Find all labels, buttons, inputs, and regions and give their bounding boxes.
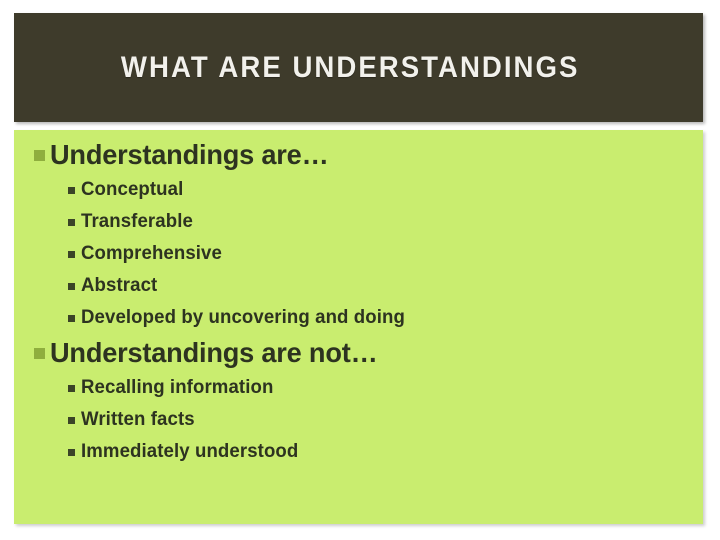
small-square-bullet-icon xyxy=(68,417,75,424)
bullet-item-label: Transferable xyxy=(81,210,193,234)
bullet-item: Immediately understood xyxy=(14,436,703,468)
bullet-item-label: Understandings are not… xyxy=(50,337,378,369)
bullet-item-label: Understandings are… xyxy=(50,139,329,171)
bullet-item: Developed by uncovering and doing xyxy=(14,302,703,334)
small-square-bullet-icon xyxy=(68,283,75,290)
bullet-item-label: Written facts xyxy=(81,408,195,432)
bullet-item: Abstract xyxy=(14,270,703,302)
square-bullet-icon xyxy=(34,348,45,359)
bullet-item: Written facts xyxy=(14,404,703,436)
bullet-item: Recalling information xyxy=(14,372,703,404)
presentation-slide: What Are Understandings Understandings a… xyxy=(0,0,720,540)
small-square-bullet-icon xyxy=(68,219,75,226)
small-square-bullet-icon xyxy=(68,187,75,194)
bullet-item-label: Abstract xyxy=(81,274,157,298)
bullet-item: Comprehensive xyxy=(14,238,703,270)
slide-title: What Are Understandings xyxy=(121,51,579,85)
square-bullet-icon xyxy=(34,150,45,161)
bullet-list: Understandings are…ConceptualTransferabl… xyxy=(14,136,703,468)
bullet-item: Transferable xyxy=(14,206,703,238)
bullet-item: Understandings are not… xyxy=(14,334,703,372)
bullet-item-label: Comprehensive xyxy=(81,242,222,266)
small-square-bullet-icon xyxy=(68,251,75,258)
bullet-item-label: Developed by uncovering and doing xyxy=(81,306,405,330)
slide-title-bar: What Are Understandings xyxy=(14,13,703,122)
bullet-item-label: Conceptual xyxy=(81,178,183,202)
bullet-item: Conceptual xyxy=(14,174,703,206)
small-square-bullet-icon xyxy=(68,315,75,322)
bullet-item-label: Immediately understood xyxy=(81,440,298,464)
bullet-item: Understandings are… xyxy=(14,136,703,174)
small-square-bullet-icon xyxy=(68,385,75,392)
bullet-item-label: Recalling information xyxy=(81,376,273,400)
slide-body-panel: Understandings are…ConceptualTransferabl… xyxy=(14,130,703,524)
small-square-bullet-icon xyxy=(68,449,75,456)
